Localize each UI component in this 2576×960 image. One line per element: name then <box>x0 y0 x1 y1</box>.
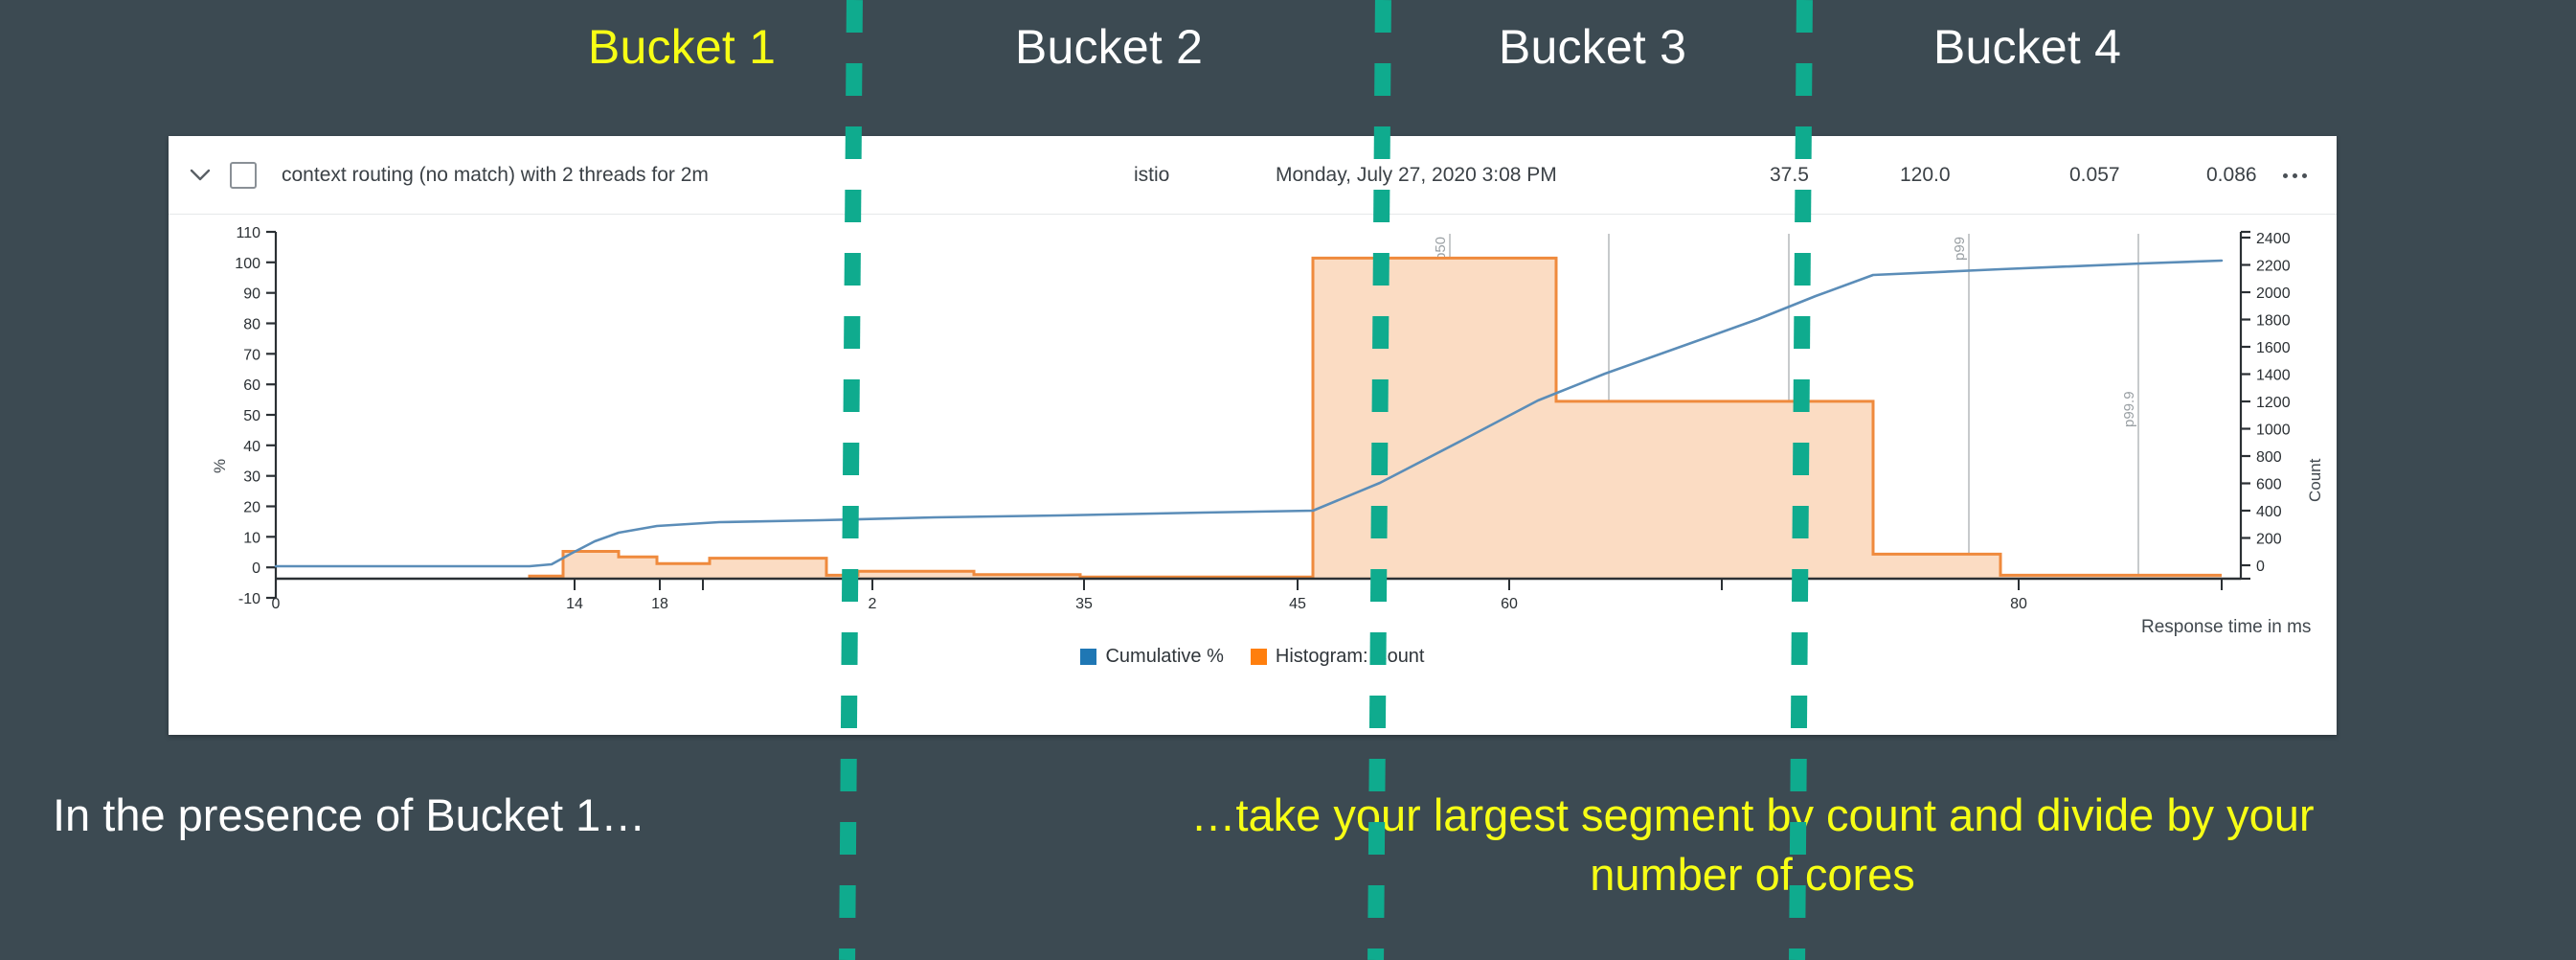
y-axis-right-title: Count <box>2306 459 2325 502</box>
legend-label-histogram: Histogram: Count <box>1276 646 1425 668</box>
svg-text:60: 60 <box>1501 596 1518 612</box>
bucket-label-4: Bucket 4 <box>1933 13 2121 80</box>
svg-text:1200: 1200 <box>2256 395 2291 411</box>
y-axis-left <box>266 232 276 598</box>
svg-text:0: 0 <box>2256 559 2265 575</box>
svg-text:2: 2 <box>869 596 877 612</box>
row-timestamp: Monday, July 27, 2020 3:08 PM <box>1276 136 1557 215</box>
svg-text:1600: 1600 <box>2256 340 2291 356</box>
svg-text:14: 14 <box>566 596 583 612</box>
row-tag: istio <box>1134 136 1169 215</box>
svg-text:90: 90 <box>243 286 260 303</box>
svg-text:50: 50 <box>243 408 260 424</box>
x-axis-ticklabels: 0 14 18 2 35 45 60 80 <box>272 596 2027 612</box>
result-row-header[interactable]: context routing (no match) with 2 thread… <box>169 136 2337 215</box>
svg-text:p99: p99 <box>1952 237 1968 261</box>
row-title: context routing (no match) with 2 thread… <box>282 136 709 215</box>
x-axis-ticks <box>276 579 2222 590</box>
more-options-icon[interactable] <box>2283 136 2307 215</box>
svg-text:0: 0 <box>272 596 281 612</box>
caption-right-line1: …take your largest segment by count and … <box>1190 789 2314 840</box>
svg-text:35: 35 <box>1075 596 1093 612</box>
svg-text:400: 400 <box>2256 504 2282 520</box>
svg-text:60: 60 <box>243 377 260 394</box>
svg-text:1800: 1800 <box>2256 313 2291 330</box>
x-axis-title: Response time in ms <box>2141 617 2311 638</box>
legend-swatch-cumulative <box>1080 649 1096 665</box>
svg-text:18: 18 <box>651 596 668 612</box>
result-card: context routing (no match) with 2 thread… <box>169 136 2337 735</box>
svg-text:80: 80 <box>243 317 260 333</box>
row-metric-2: 120.0 <box>1900 136 1951 215</box>
legend-item-histogram[interactable]: Histogram: Count <box>1251 646 1425 668</box>
caption-right-line2: number of cores <box>948 845 2557 904</box>
y-axis-right-ticklabels: 2400 2200 2000 1800 1600 1400 1200 1000 … <box>2256 231 2291 575</box>
caption-right: …take your largest segment by count and … <box>948 786 2557 904</box>
svg-text:800: 800 <box>2256 449 2282 466</box>
svg-text:600: 600 <box>2256 477 2282 493</box>
svg-text:2200: 2200 <box>2256 259 2291 275</box>
svg-text:80: 80 <box>2010 596 2027 612</box>
svg-text:30: 30 <box>243 469 260 486</box>
svg-text:0: 0 <box>252 560 260 577</box>
row-metric-4: 0.086 <box>2206 136 2257 215</box>
svg-text:100: 100 <box>235 256 260 272</box>
slide-root: Bucket 1 Bucket 2 Bucket 3 Bucket 4 cont… <box>0 0 2576 960</box>
y-axis-right <box>2241 232 2250 579</box>
row-checkbox[interactable] <box>230 162 257 189</box>
svg-text:45: 45 <box>1289 596 1306 612</box>
svg-text:-10: -10 <box>238 591 260 607</box>
legend-swatch-histogram <box>1251 649 1267 665</box>
histogram-chart: 110 100 90 80 70 60 50 40 30 20 10 0 -10 <box>169 215 2337 735</box>
bucket-label-1: Bucket 1 <box>588 13 776 80</box>
caption-left: In the presence of Bucket 1… <box>53 786 915 845</box>
svg-text:2000: 2000 <box>2256 286 2291 302</box>
svg-text:40: 40 <box>243 439 260 455</box>
y-axis-left-title: % <box>211 459 230 473</box>
cumulative-line <box>276 261 2222 566</box>
svg-text:1000: 1000 <box>2256 423 2291 439</box>
svg-text:2400: 2400 <box>2256 231 2291 247</box>
chart-legend: Cumulative % Histogram: Count <box>169 646 2337 668</box>
row-metric-3: 0.057 <box>2069 136 2120 215</box>
svg-text:1400: 1400 <box>2256 368 2291 384</box>
svg-text:70: 70 <box>243 347 260 363</box>
legend-label-cumulative: Cumulative % <box>1105 646 1223 668</box>
legend-item-cumulative[interactable]: Cumulative % <box>1080 646 1223 668</box>
chevron-down-icon[interactable] <box>184 136 216 215</box>
y-axis-left-ticklabels: 110 100 90 80 70 60 50 40 30 20 10 0 -10 <box>235 225 260 607</box>
svg-text:200: 200 <box>2256 532 2282 548</box>
bucket-label-2: Bucket 2 <box>1015 13 1203 80</box>
svg-text:10: 10 <box>243 530 260 546</box>
bucket-labels-row: Bucket 1 Bucket 2 Bucket 3 Bucket 4 <box>0 13 2576 100</box>
bucket-label-3: Bucket 3 <box>1499 13 1686 80</box>
svg-text:110: 110 <box>236 225 260 241</box>
svg-text:p99.9: p99.9 <box>2121 391 2137 427</box>
svg-text:20: 20 <box>243 500 260 516</box>
